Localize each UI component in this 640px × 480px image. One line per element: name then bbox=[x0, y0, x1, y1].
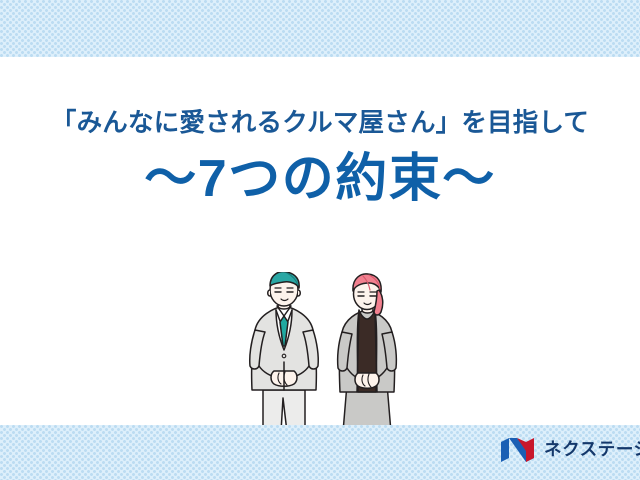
page-subtitle: 〜7つの約束〜 bbox=[0, 150, 640, 208]
brand-logo: ネクステージ bbox=[500, 437, 640, 463]
headline-block: 「みんなに愛されるクルマ屋さん」を目指して 〜7つの約束〜 bbox=[0, 108, 640, 208]
two-bowing-staff-illustration bbox=[243, 272, 409, 432]
slide-canvas: 「みんなに愛されるクルマ屋さん」を目指して 〜7つの約束〜 bbox=[0, 0, 640, 480]
page-title: 「みんなに愛されるクルマ屋さん」を目指して bbox=[0, 108, 640, 138]
male-staff-figure bbox=[250, 272, 319, 432]
brand-name: ネクステージ bbox=[544, 441, 640, 459]
staff-illustration-svg bbox=[243, 272, 409, 432]
top-dotted-band bbox=[0, 0, 640, 57]
nexstage-n-mark-icon bbox=[500, 437, 537, 463]
female-staff-figure bbox=[338, 274, 397, 432]
